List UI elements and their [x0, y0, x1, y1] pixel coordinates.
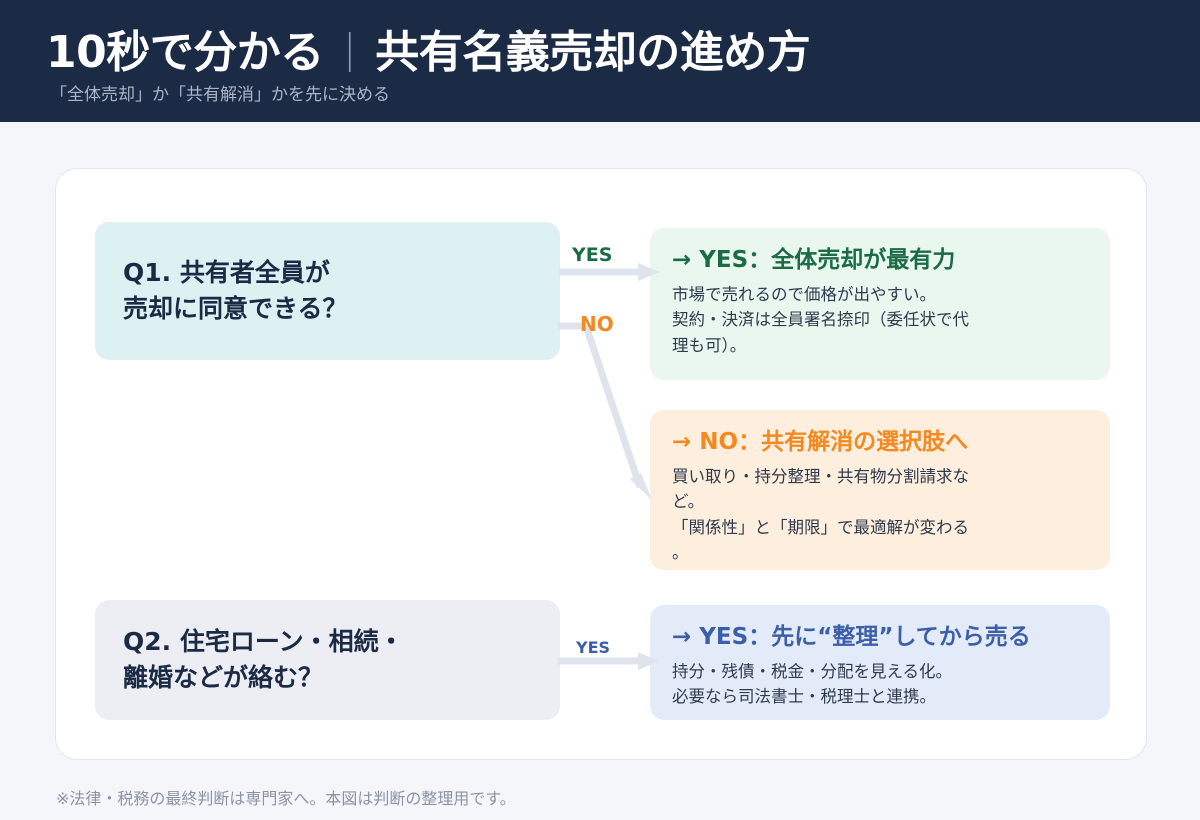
page-subtitle: 「全体売却」か「共有解消」かを先に決める: [50, 86, 390, 105]
page-title-right: 共有名義売却の進め方: [375, 27, 810, 78]
question-box-q2[interactable]: Q2. 住宅ローン・相続・ 離婚などが絡む？: [95, 600, 560, 720]
edge-label-q1-no: NO: [580, 312, 614, 336]
question-q1-label: Q1. 共有者全員が 売却に同意できる？: [123, 255, 348, 328]
outcome-card-no[interactable]: → NO：共有解消の選択肢へ 買い取り・持分整理・共有物分割請求な ど。 「関係…: [650, 410, 1110, 570]
title-separator: ｜: [324, 31, 376, 77]
question-box-q1[interactable]: Q1. 共有者全員が 売却に同意できる？: [95, 222, 560, 360]
outcome-card-yes-2[interactable]: → YES：先に“整理”してから売る 持分・残債・税金・分配を見える化。 必要な…: [650, 605, 1110, 720]
edge-label-q2-yes: YES: [576, 638, 610, 657]
outcome-yes-1-body: 市場で売れるので価格が出やすい。 契約・決済は全員署名捺印（委任状で代 理も可）…: [672, 282, 1088, 359]
outcome-yes-1-title: → YES：全体売却が最有力: [672, 246, 1088, 275]
outcome-card-yes-1[interactable]: → YES：全体売却が最有力 市場で売れるので価格が出やすい。 契約・決済は全員…: [650, 228, 1110, 380]
question-q2-label: Q2. 住宅ローン・相続・ 離婚などが絡む？: [123, 624, 404, 697]
outcome-no-title: → NO：共有解消の選択肢へ: [672, 428, 1088, 457]
outcome-no-body: 買い取り・持分整理・共有物分割請求な ど。 「関係性」と「期限」で最適解が変わる…: [672, 464, 1088, 566]
page-title: 10秒で分かる｜共有名義売却の進め方: [46, 30, 810, 76]
page-title-left: 10秒で分かる: [46, 27, 324, 78]
edge-label-q1-yes: YES: [572, 244, 612, 266]
header-band: 10秒で分かる｜共有名義売却の進め方 「全体売却」か「共有解消」かを先に決める: [0, 0, 1200, 122]
outcome-yes-2-body: 持分・残債・税金・分配を見える化。 必要なら司法書士・税理士と連携。: [672, 659, 1088, 710]
footer-note: ※法律・税務の最終判断は専門家へ。本図は判断の整理用です。: [56, 785, 516, 809]
outcome-yes-2-title: → YES：先に“整理”してから売る: [672, 623, 1088, 652]
